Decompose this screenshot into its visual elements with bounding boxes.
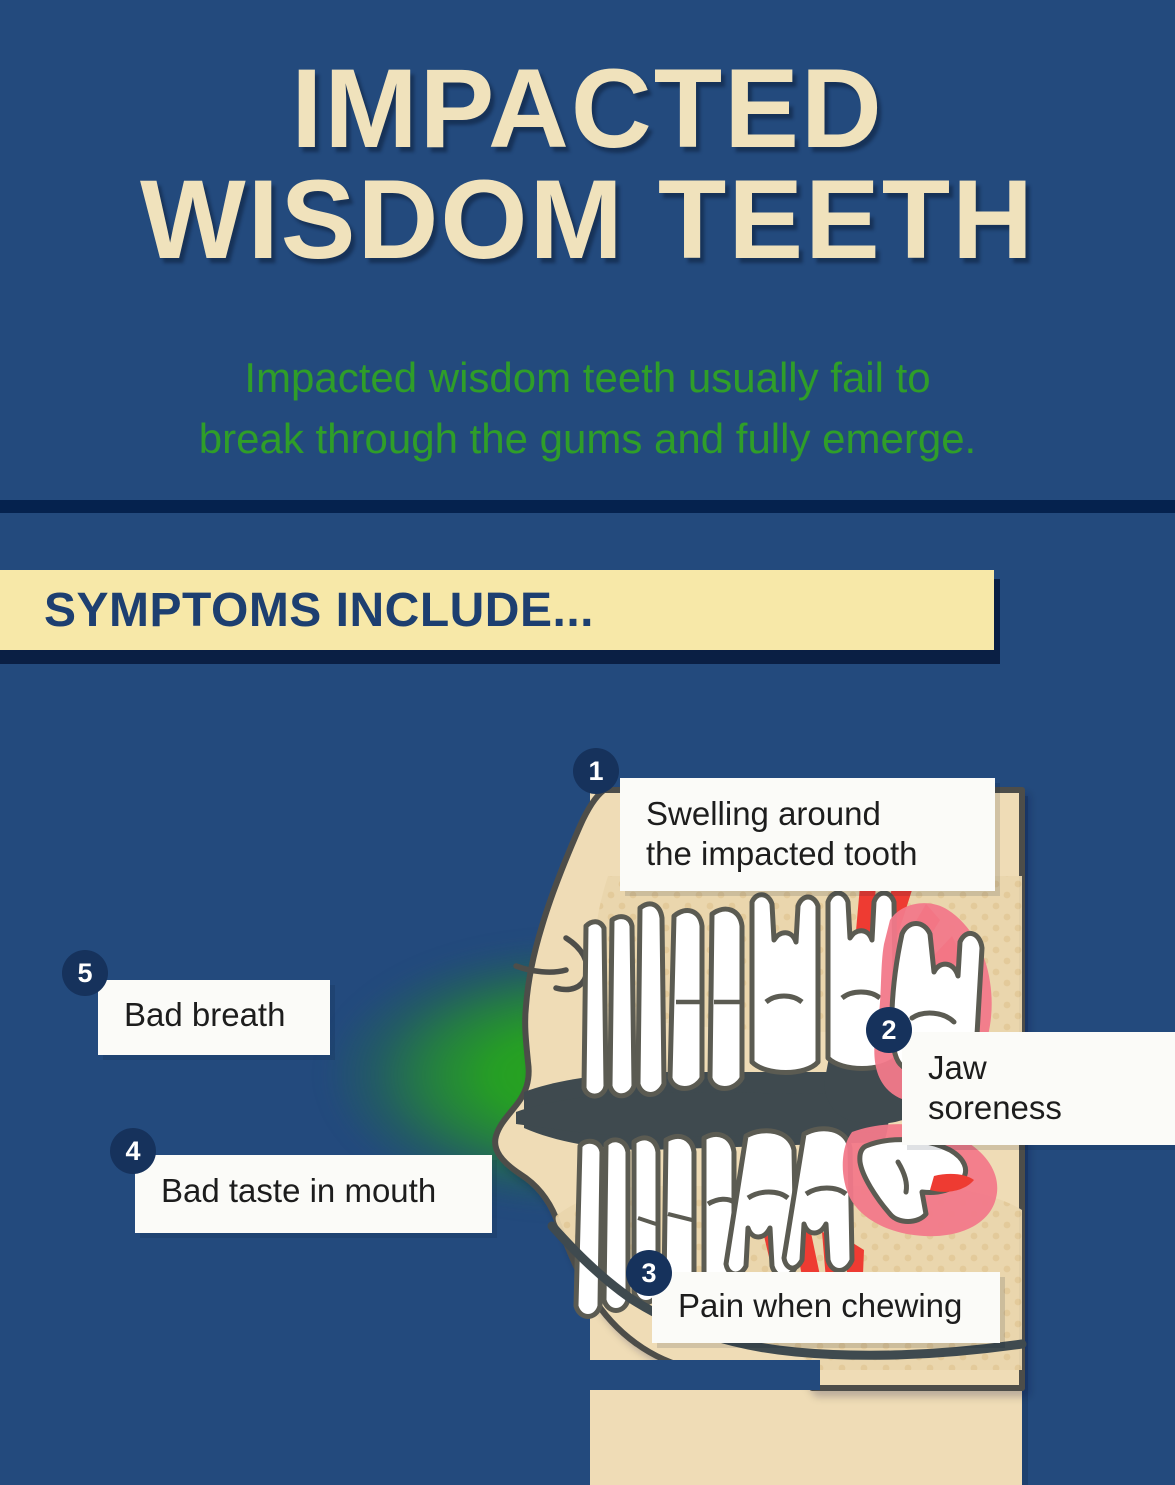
page-subtitle-line-1: Impacted wisdom teeth usually fail to: [0, 348, 1175, 409]
symptom-badge-1: 1: [573, 748, 619, 794]
symptom-5-line-1: Bad breath: [124, 995, 308, 1035]
symptom-callout-2[interactable]: Jaw soreness: [902, 1032, 1175, 1145]
symptom-callout-3[interactable]: Pain when chewing: [652, 1272, 1000, 1343]
symptom-badge-4: 4: [110, 1128, 156, 1174]
page-title-line-1: IMPACTED: [0, 54, 1175, 165]
page-title: IMPACTED WISDOM TEETH: [0, 54, 1175, 276]
symptom-callout-5[interactable]: Bad breath: [98, 980, 330, 1055]
symptom-callout-4[interactable]: Bad taste in mouth: [135, 1155, 492, 1233]
symptoms-banner-label: SYMPTOMS INCLUDE...: [44, 583, 594, 638]
page-subtitle: Impacted wisdom teeth usually fail to br…: [0, 348, 1175, 470]
symptom-1-line-2: the impacted tooth: [646, 834, 973, 874]
symptom-4-line-1: Bad taste in mouth: [161, 1171, 470, 1211]
symptom-callout-1[interactable]: Swelling around the impacted tooth: [620, 778, 995, 891]
section-divider: [0, 500, 1175, 513]
symptom-2-line-1: Jaw: [928, 1048, 1153, 1088]
page-subtitle-line-2: break through the gums and fully emerge.: [0, 409, 1175, 470]
upper-teeth-row: [584, 893, 896, 1096]
symptom-1-line-1: Swelling around: [646, 794, 973, 834]
symptoms-banner: SYMPTOMS INCLUDE...: [0, 570, 1000, 660]
symptom-badge-2: 2: [866, 1007, 912, 1053]
symptom-badge-5: 5: [62, 950, 108, 996]
symptom-badge-3: 3: [626, 1250, 672, 1296]
symptom-3-line-1: Pain when chewing: [678, 1286, 978, 1326]
page-title-line-2: WISDOM TEETH: [0, 165, 1175, 276]
symptoms-banner-plate: SYMPTOMS INCLUDE...: [0, 570, 994, 650]
panel-notch: [590, 1360, 820, 1390]
symptom-2-line-2: soreness: [928, 1088, 1153, 1128]
hero-section: IMPACTED WISDOM TEETH Impacted wisdom te…: [0, 0, 1175, 500]
